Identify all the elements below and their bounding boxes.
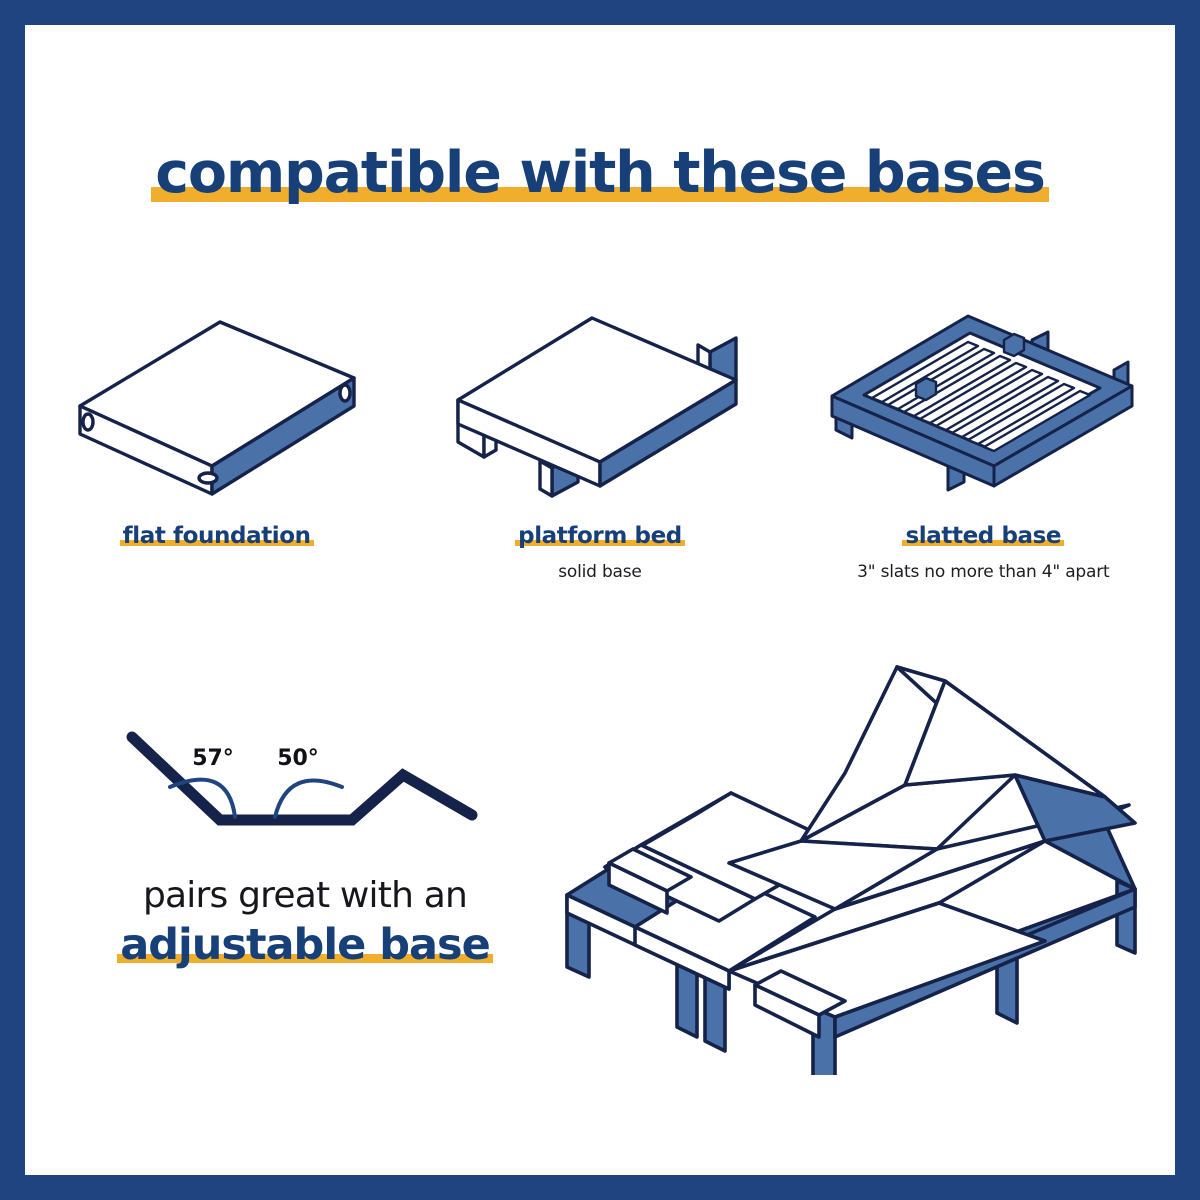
base-card-platform-bed: platform bed solid base: [420, 285, 780, 582]
angle-arc-50: [275, 780, 342, 817]
slatted-base-sub: 3" slats no more than 4" apart: [803, 562, 1163, 582]
adjustable-base-icon: [545, 645, 1145, 1075]
platform-bed-icon: [440, 300, 760, 500]
slatted-base-icon: [818, 300, 1148, 500]
pairs-great-with-an-text: pairs great with an: [85, 875, 525, 916]
slatted-base-art: [803, 285, 1163, 515]
angle-label-50: 50°: [277, 746, 319, 771]
page-title-text: compatible with these bases: [155, 140, 1044, 206]
angle-diagram-icon: 57° 50°: [120, 725, 490, 855]
adjustable-base-label: adjustable base: [120, 920, 490, 970]
platform-bed-art: [420, 285, 780, 515]
flat-foundation-label-wrap: flat foundation: [120, 523, 314, 549]
platform-bed-sub: solid base: [420, 562, 780, 582]
slatted-base-label: slatted base: [905, 523, 1061, 549]
page-title: compatible with these bases: [25, 135, 1175, 212]
adjustable-base-text-block: 57° 50° pairs great with an adjustable b…: [85, 715, 525, 970]
platform-bed-label: platform bed: [518, 523, 682, 549]
base-card-slatted-base: slatted base 3" slats no more than 4" ap…: [803, 285, 1163, 582]
product-infographic: compatible with these bases: [0, 0, 1200, 1200]
compatible-bases-row: flat foundation: [25, 285, 1175, 582]
angle-label-57: 57°: [192, 746, 234, 771]
flat-foundation-label: flat foundation: [123, 523, 311, 549]
flat-foundation-icon: [62, 300, 372, 500]
adjustable-base-label-wrap: adjustable base: [117, 920, 493, 970]
adjustable-base-art: [545, 645, 1145, 1075]
angle-diagram-art: 57° 50°: [85, 715, 525, 865]
slatted-base-label-wrap: slatted base: [902, 523, 1064, 549]
page-title-wrap: compatible with these bases: [151, 135, 1048, 212]
flat-foundation-art: [37, 285, 397, 515]
platform-bed-label-wrap: platform bed: [515, 523, 685, 549]
infographic-canvas: compatible with these bases: [25, 25, 1175, 1175]
base-card-flat-foundation: flat foundation: [37, 285, 397, 562]
